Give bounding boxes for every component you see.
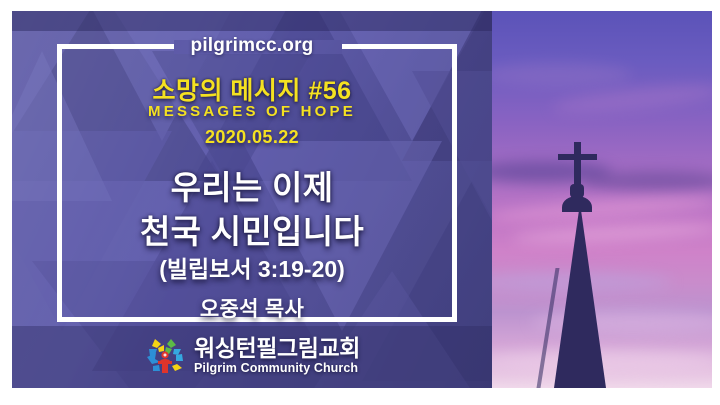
sermon-title-line-1: 우리는 이제 <box>12 161 492 209</box>
church-name-block: 워싱턴필그림교회 Pilgrim Community Church <box>194 337 360 375</box>
series-title-korean: 소망의 메시지 #56 <box>12 71 492 107</box>
top-shade-band <box>12 11 492 31</box>
steeple-cap <box>562 196 592 212</box>
speaker-name: 오중석 목사 <box>12 293 492 323</box>
steeple-sunset-photo <box>492 11 712 388</box>
slide-content: pilgrimcc.org 소망의 메시지 #56 MESSAGES OF HO… <box>12 11 712 388</box>
left-title-panel: pilgrimcc.org 소망의 메시지 #56 MESSAGES OF HO… <box>12 11 492 388</box>
website-url: pilgrimcc.org <box>12 35 492 57</box>
scripture-reference: (빌립보서 3:19-20) <box>12 250 492 284</box>
sermon-title-slide: pilgrimcc.org 소망의 메시지 #56 MESSAGES OF HO… <box>0 0 720 405</box>
cloud-wisp <box>492 63 632 87</box>
church-logo-lockup: 워싱턴필그림교회 Pilgrim Community Church <box>12 336 492 376</box>
cross-icon <box>574 142 581 188</box>
sermon-date: 2020.05.22 <box>12 127 492 148</box>
church-steeple-silhouette <box>532 158 622 388</box>
church-name-korean: 워싱턴필그림교회 <box>194 337 360 360</box>
cross-crossbar <box>558 154 597 160</box>
series-title-english: MESSAGES OF HOPE <box>12 103 492 120</box>
steeple-spire <box>554 203 606 388</box>
people-star-circle-logo-icon <box>144 336 186 376</box>
sermon-title-line-2: 천국 시민입니다 <box>12 205 492 253</box>
church-name-english: Pilgrim Community Church <box>194 362 358 375</box>
